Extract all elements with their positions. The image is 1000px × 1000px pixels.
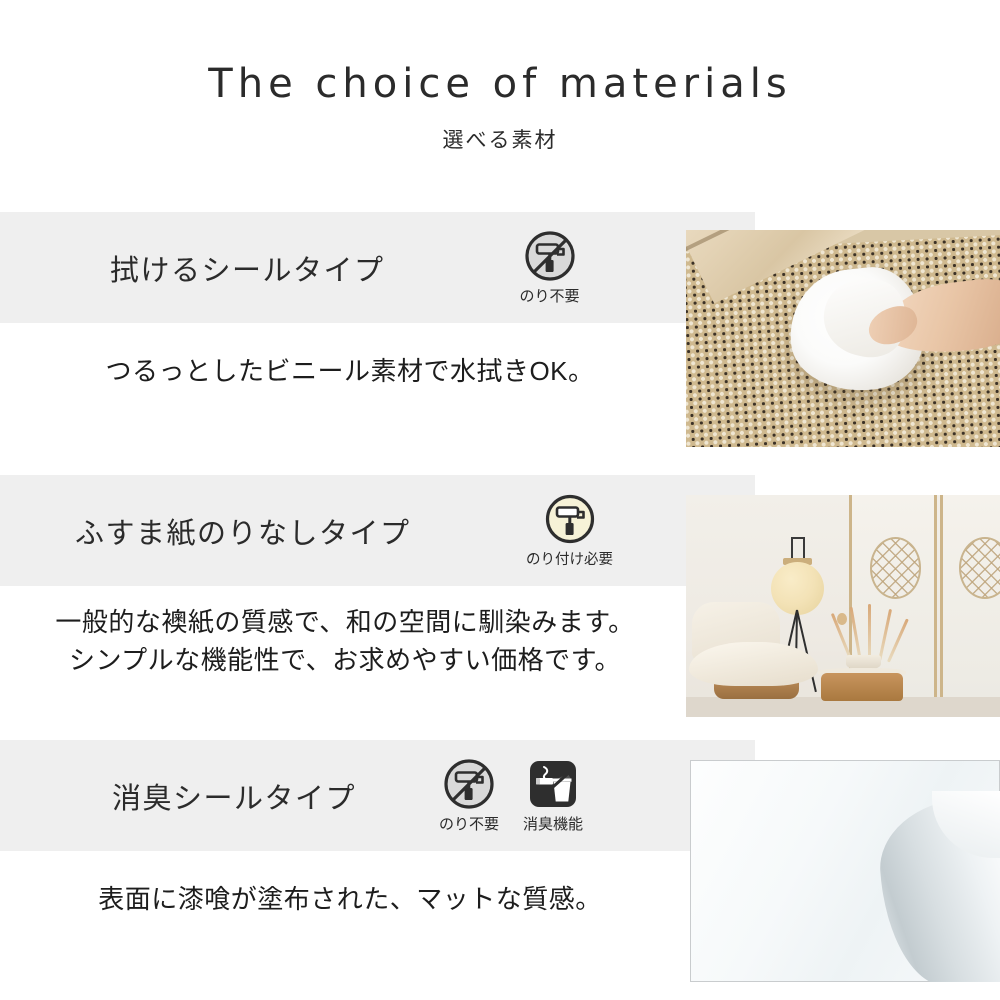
section-2-band-content: ふすま紙のりなしタイプ のり付け必要 bbox=[0, 475, 755, 586]
badge-glue-required: のり付け必要 bbox=[507, 493, 633, 569]
badge-no-glue: のり不要 bbox=[434, 758, 504, 834]
badge-no-glue: のり不要 bbox=[515, 230, 585, 306]
page-root: The choice of materials 選べる素材 拭けるシールタイプ … bbox=[0, 0, 1000, 1000]
section-2-description-line-2: シンプルな機能性で、お求めやすい価格です。 bbox=[0, 641, 690, 679]
section-3-description: 表面に漆喰が塗布された、マットな質感。 bbox=[0, 880, 700, 918]
section-1-band-content: 拭けるシールタイプ のり不要 bbox=[0, 212, 755, 323]
section-3-photo bbox=[690, 760, 1000, 982]
section-1-description: つるっとしたビニール素材で水拭きOK。 bbox=[0, 352, 700, 390]
section-1-badges: のり不要 bbox=[515, 230, 585, 306]
section-3-badges: のり不要 消臭機能 bbox=[434, 758, 588, 834]
badge-label: のり不要 bbox=[439, 813, 499, 834]
section-3-band-content: 消臭シールタイプ のり不要 bbox=[0, 740, 755, 851]
section-2-photo bbox=[686, 495, 1000, 717]
paint-roller-prohibited-icon bbox=[443, 758, 495, 810]
badge-deodorant: 消臭機能 bbox=[518, 758, 588, 834]
badge-label: 消臭機能 bbox=[523, 813, 583, 834]
section-2-badges: のり付け必要 bbox=[507, 493, 633, 569]
section-2-description-line-1: 一般的な襖紙の質感で、和の空間に馴染みます。 bbox=[0, 603, 690, 641]
paint-roller-prohibited-icon bbox=[524, 230, 576, 282]
page-header: The choice of materials 選べる素材 bbox=[0, 0, 1000, 154]
section-2-title: ふすま紙のりなしタイプ bbox=[75, 510, 411, 552]
badge-label: のり付け必要 bbox=[526, 548, 613, 569]
deodorant-function-icon bbox=[527, 758, 579, 810]
section-3-title: 消臭シールタイプ bbox=[112, 775, 356, 817]
page-subtitle: 選べる素材 bbox=[0, 124, 1000, 154]
paint-roller-icon bbox=[544, 493, 596, 545]
badge-label: のり不要 bbox=[520, 285, 580, 306]
page-title: The choice of materials bbox=[0, 64, 1000, 104]
section-1-photo bbox=[686, 230, 1000, 447]
section-1-title: 拭けるシールタイプ bbox=[110, 247, 385, 289]
section-2-description: 一般的な襖紙の質感で、和の空間に馴染みます。 シンプルな機能性で、お求めやすい価… bbox=[0, 603, 690, 680]
